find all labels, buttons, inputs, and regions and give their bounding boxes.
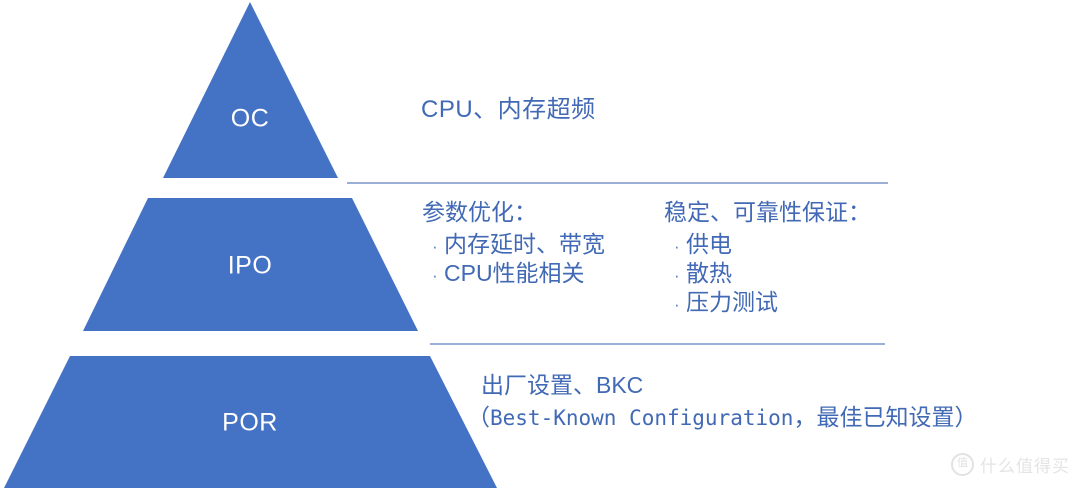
watermark: 值 什么值得买 xyxy=(951,452,1070,477)
por-paren-close: ） xyxy=(954,404,977,430)
ipo-right-bullet-3-text: 压力测试 xyxy=(686,291,778,314)
por-latin-text: Best-Known Configuration xyxy=(490,406,793,430)
slide-canvas: OC IPO POR CPU、内存超频 参数优化： · 内存延时、带宽 · CP… xyxy=(0,0,1080,488)
pyramid-tier-ipo-label: IPO xyxy=(228,252,273,281)
pyramid-tier-oc-label: OC xyxy=(231,105,270,134)
ipo-right-bullet-2: · 散热 xyxy=(664,262,914,285)
ipo-left-bullet-2-text: CPU性能相关 xyxy=(444,262,585,285)
pyramid-tier-oc-shape xyxy=(163,2,338,178)
bullet-dot-icon: · xyxy=(664,267,686,284)
ipo-left-heading: 参数优化： xyxy=(422,201,664,224)
divider-line-upper xyxy=(347,182,888,184)
ipo-left-bullet-1: · 内存延时、带宽 xyxy=(422,233,664,256)
ipo-right-heading: 稳定、可靠性保证： xyxy=(664,201,914,224)
watermark-text: 什么值得买 xyxy=(980,452,1070,477)
por-line-2: （Best-Known Configuration，最佳已知设置） xyxy=(467,406,977,429)
por-comma: ， xyxy=(793,404,816,430)
divider-line-lower xyxy=(430,343,885,345)
por-line-1: 出厂设置、BKC xyxy=(481,374,977,397)
bullet-dot-icon: · xyxy=(422,267,444,284)
oc-description-text: CPU、内存超频 xyxy=(421,98,596,122)
ipo-right-bullet-1: · 供电 xyxy=(664,233,914,256)
ipo-right-bullet-2-text: 散热 xyxy=(686,262,732,285)
por-paren-open: （ xyxy=(467,404,490,430)
ipo-description-block: 参数优化： · 内存延时、带宽 · CPU性能相关 稳定、可靠性保证： · 供电… xyxy=(422,201,914,320)
ipo-left-bullet-2: · CPU性能相关 xyxy=(422,262,664,285)
bullet-dot-icon: · xyxy=(422,238,444,255)
bullet-dot-icon: · xyxy=(664,238,686,255)
por-cn-text: 最佳已知设置 xyxy=(816,404,954,430)
ipo-right-column: 稳定、可靠性保证： · 供电 · 散热 · 压力测试 xyxy=(664,201,914,320)
bullet-dot-icon: · xyxy=(664,296,686,313)
watermark-badge-icon: 值 xyxy=(951,453,974,476)
pyramid-tier-por-label: POR xyxy=(222,409,278,438)
ipo-left-bullet-1-text: 内存延时、带宽 xyxy=(444,233,605,256)
ipo-left-column: 参数优化： · 内存延时、带宽 · CPU性能相关 xyxy=(422,201,664,291)
ipo-right-bullet-3: · 压力测试 xyxy=(664,291,914,314)
ipo-right-bullet-1-text: 供电 xyxy=(686,233,732,256)
por-description-block: 出厂设置、BKC （Best-Known Configuration，最佳已知设… xyxy=(481,374,977,429)
